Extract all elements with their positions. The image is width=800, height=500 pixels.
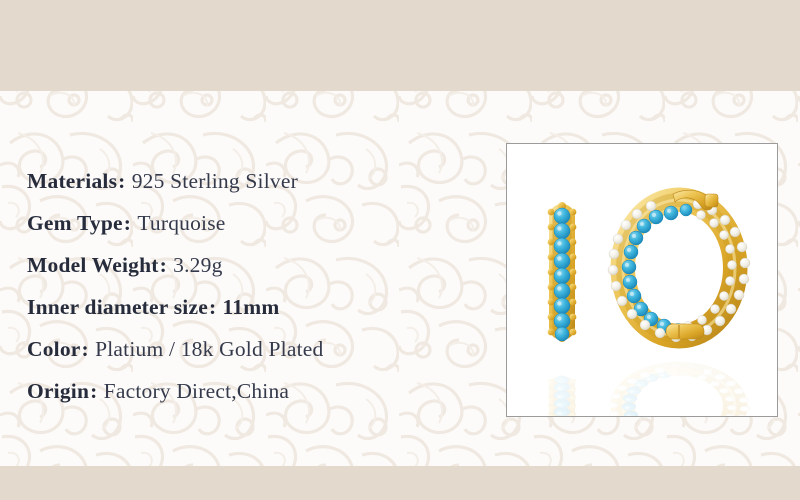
spec-label: Gem Type — [27, 211, 123, 235]
spec-value: 11mm — [223, 295, 280, 319]
spec-separator: : — [159, 253, 168, 277]
specifications-list: Materials: 925 Sterling Silver Gem Type:… — [27, 160, 467, 412]
spec-row-model-weight: Model Weight: 3.29g — [27, 244, 467, 286]
spec-separator: : — [208, 295, 217, 319]
product-information-page: Products Information Materials: 925 Ster… — [0, 0, 800, 500]
spec-separator: : — [123, 211, 132, 235]
spec-label: Color — [27, 337, 81, 361]
spec-value: Platium / 18k Gold Plated — [95, 337, 323, 361]
spec-row-origin: Origin: Factory Direct,China — [27, 370, 467, 412]
header-band — [0, 0, 800, 91]
right-earring — [608, 190, 750, 342]
spec-value: 3.29g — [173, 253, 222, 277]
product-image-frame — [506, 143, 778, 417]
spec-separator: : — [89, 379, 98, 403]
left-earring — [548, 202, 577, 342]
spec-label: Inner diameter size — [27, 295, 208, 319]
spec-row-gem-type: Gem Type: Turquoise — [27, 202, 467, 244]
footer-band — [0, 466, 800, 500]
spec-label: Origin — [27, 379, 89, 403]
spec-value: Factory Direct,China — [104, 379, 290, 403]
spec-value: 925 Sterling Silver — [132, 169, 298, 193]
spec-separator: : — [81, 337, 90, 361]
spec-value: Turquoise — [137, 211, 225, 235]
spec-row-materials: Materials: 925 Sterling Silver — [27, 160, 467, 202]
spec-label: Materials — [27, 169, 117, 193]
spec-separator: : — [117, 169, 126, 193]
spec-row-inner-diameter: Inner diameter size: 11mm — [27, 286, 467, 328]
spec-row-color: Color: Platium / 18k Gold Plated — [27, 328, 467, 370]
spec-label: Model Weight — [27, 253, 159, 277]
product-photo — [507, 144, 777, 416]
